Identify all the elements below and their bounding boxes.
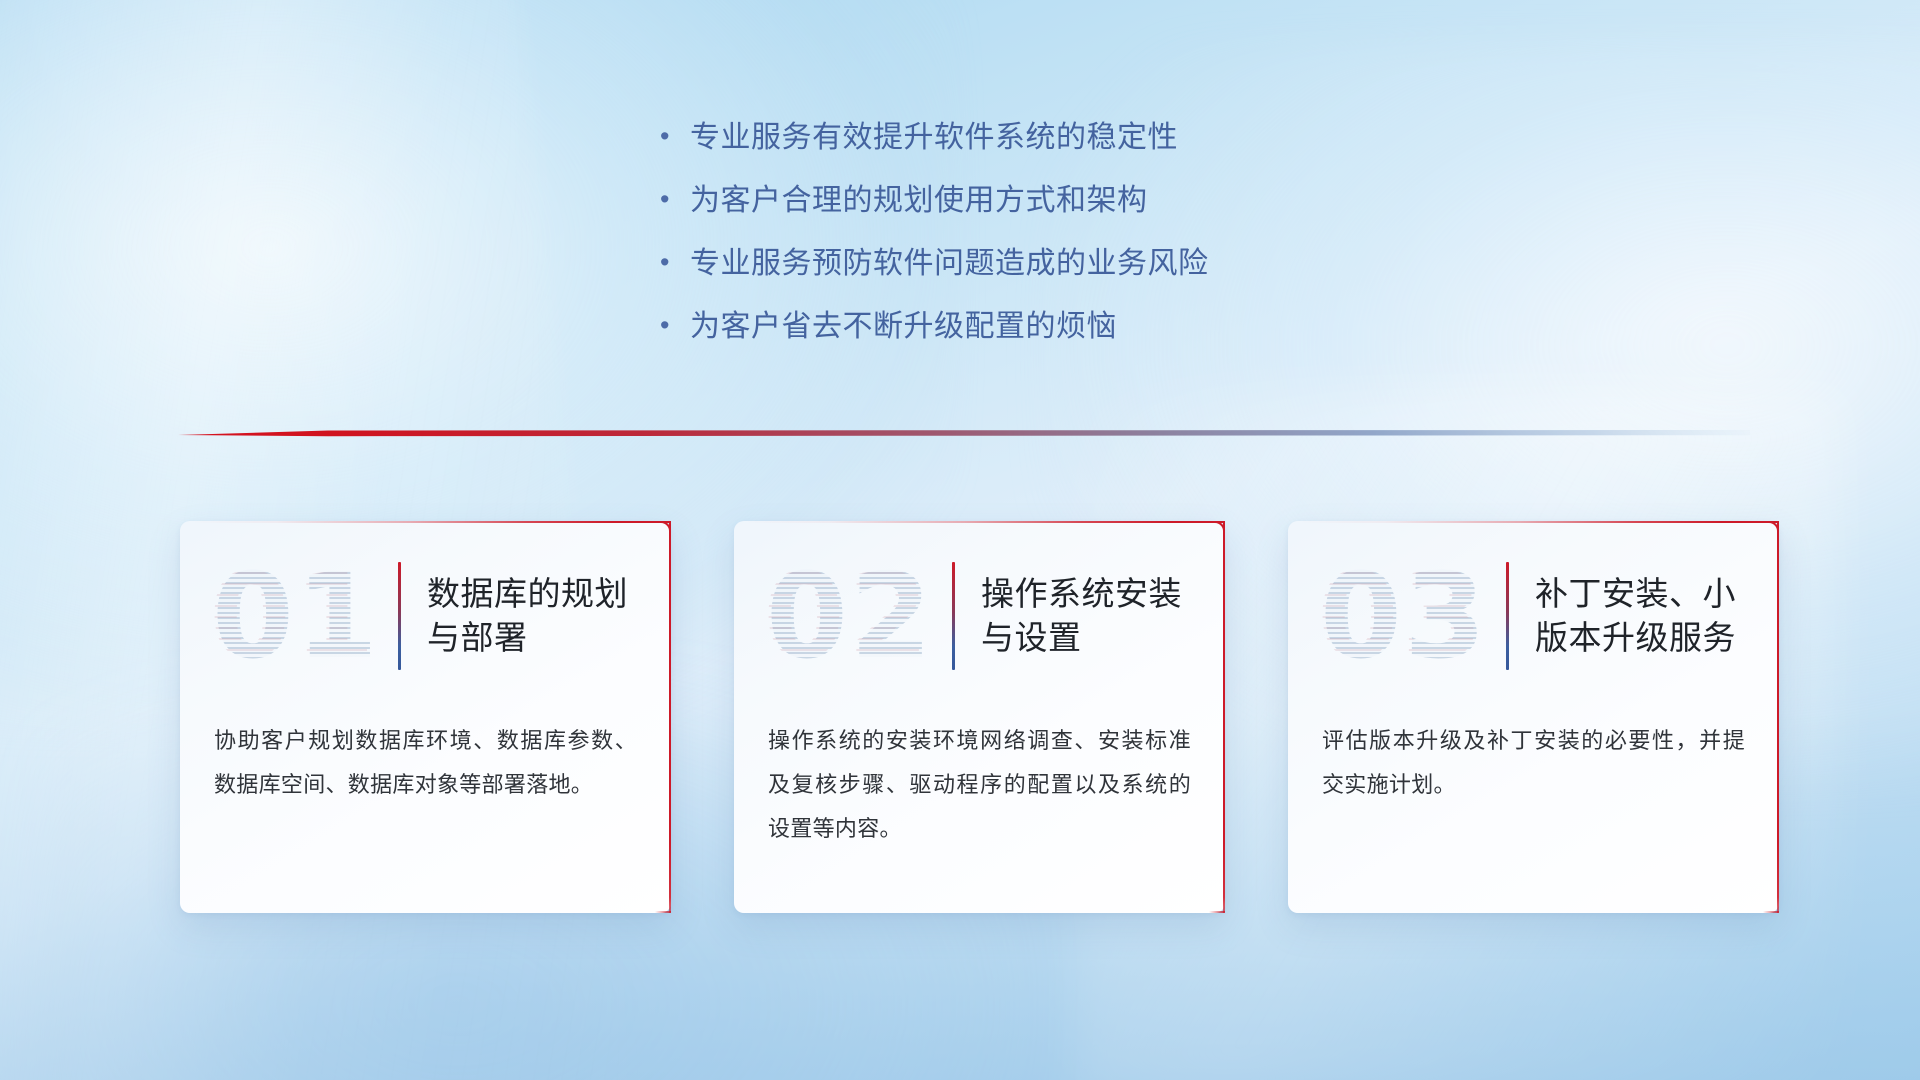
card-title-divider-bar [952, 562, 955, 670]
card-number-watermark: 03 03 [1306, 541, 1502, 691]
slide-canvas: • 专业服务有效提升软件系统的稳定性 • 为客户合理的规划使用方式和架构 • 专… [0, 0, 1920, 1080]
section-divider [178, 424, 1750, 446]
benefits-bullet-list: • 专业服务有效提升软件系统的稳定性 • 为客户合理的规划使用方式和架构 • 专… [660, 112, 1480, 364]
card-description: 操作系统的安装环境网络调查、安装标准及复核步骤、驱动程序的配置以及系统的设置等内… [768, 719, 1191, 851]
card-number-glitch-overlay: 03 [1303, 541, 1499, 691]
bullet-item-label: 专业服务预防软件问题造成的业务风险 [690, 238, 1209, 282]
list-item: • 为客户合理的规划使用方式和架构 [660, 175, 1480, 238]
card-body: 评估版本升级及补丁安装的必要性，并提交实施计划。 [1288, 719, 1779, 807]
card-title: 数据库的规划与部署 [427, 572, 649, 660]
bullet-item-label: 专业服务有效提升软件系统的稳定性 [690, 112, 1178, 156]
card-description: 协助客户规划数据库环境、数据库参数、数据库空间、数据库对象等部署落地。 [214, 719, 637, 807]
card-edge-bottom [1209, 911, 1225, 913]
list-item: • 专业服务预防软件问题造成的业务风险 [660, 238, 1480, 301]
card-number-glitch-overlay: 01 [195, 541, 391, 691]
service-card-row: 01 01 数据库的规划与部署 协助客户规划数据库环境、数据库参数、数据库空间、… [180, 521, 1780, 921]
card-edge-bottom [655, 911, 671, 913]
card-body: 操作系统的安装环境网络调查、安装标准及复核步骤、驱动程序的配置以及系统的设置等内… [734, 719, 1225, 851]
bullet-item-label: 为客户省去不断升级配置的烦恼 [690, 301, 1117, 345]
card-title: 补丁安装、小版本升级服务 [1535, 572, 1757, 660]
card-number-watermark: 02 02 [752, 541, 948, 691]
card-header: 02 02 操作系统安装与设置 [734, 521, 1225, 711]
card-description: 评估版本升级及补丁安装的必要性，并提交实施计划。 [1322, 719, 1745, 807]
bullet-item-label: 为客户合理的规划使用方式和架构 [690, 175, 1148, 219]
list-item: • 为客户省去不断升级配置的烦恼 [660, 301, 1480, 364]
card-title-divider-bar [1506, 562, 1509, 670]
service-card-02[interactable]: 02 02 操作系统安装与设置 操作系统的安装环境网络调查、安装标准及复核步骤、… [734, 521, 1225, 913]
card-header: 03 03 补丁安装、小版本升级服务 [1288, 521, 1779, 711]
bullet-dot-icon: • [660, 123, 690, 150]
card-edge-bottom [1763, 911, 1779, 913]
card-header: 01 01 数据库的规划与部署 [180, 521, 671, 711]
card-number-watermark: 01 01 [198, 541, 394, 691]
bullet-dot-icon: • [660, 312, 690, 339]
card-title-divider-bar [398, 562, 401, 670]
card-number-glitch-overlay: 02 [749, 541, 945, 691]
bullet-dot-icon: • [660, 186, 690, 213]
card-title: 操作系统安装与设置 [981, 572, 1203, 660]
card-body: 协助客户规划数据库环境、数据库参数、数据库空间、数据库对象等部署落地。 [180, 719, 671, 807]
list-item: • 专业服务有效提升软件系统的稳定性 [660, 112, 1480, 175]
bullet-dot-icon: • [660, 249, 690, 276]
service-card-01[interactable]: 01 01 数据库的规划与部署 协助客户规划数据库环境、数据库参数、数据库空间、… [180, 521, 671, 913]
service-card-03[interactable]: 03 03 补丁安装、小版本升级服务 评估版本升级及补丁安装的必要性，并提交实施… [1288, 521, 1779, 913]
